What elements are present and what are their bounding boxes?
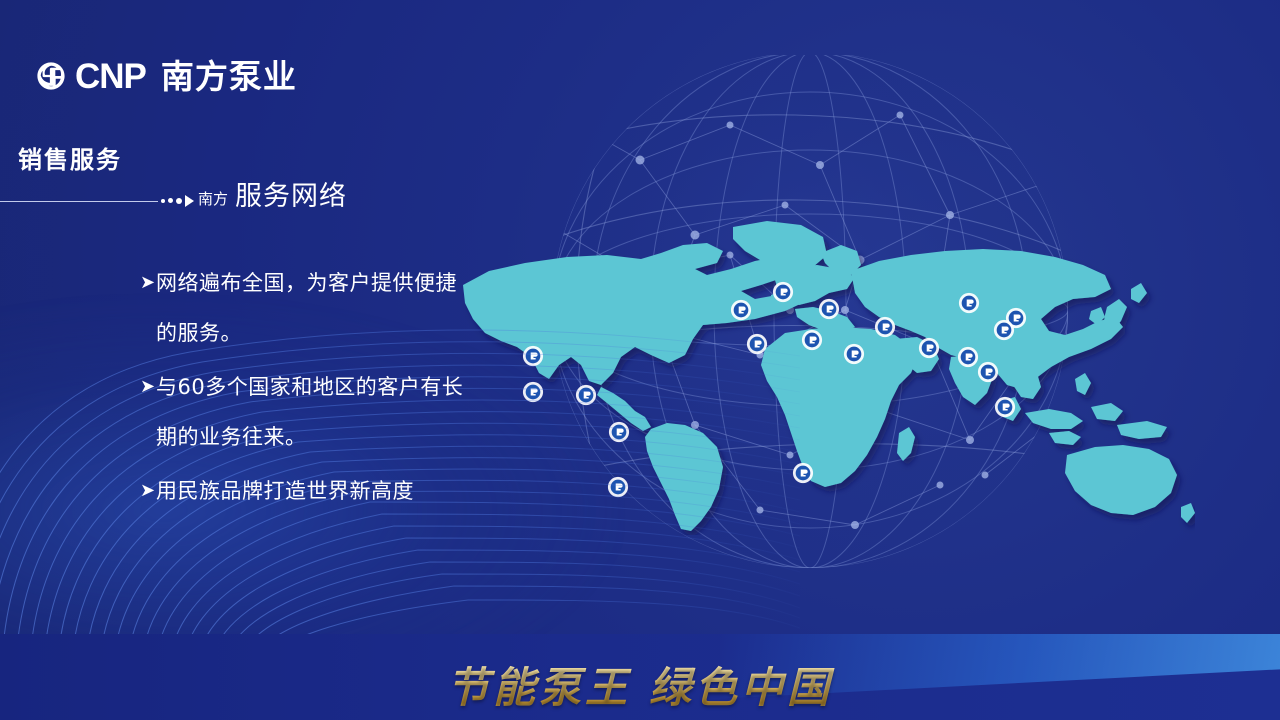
cnp-location-marker-icon[interactable] [843, 343, 865, 365]
dot-large [176, 198, 182, 204]
list-item: ➤ 用民族品牌打造世界新高度 [140, 466, 470, 516]
cnp-location-marker-icon[interactable] [818, 298, 840, 320]
slogan-part-2: 绿色中国 [649, 663, 833, 712]
cnp-location-marker-icon[interactable] [772, 281, 794, 303]
title-divider-rule [0, 201, 158, 202]
cnp-location-marker-icon[interactable] [746, 333, 768, 355]
bullet-text: 用民族品牌打造世界新高度 [156, 466, 470, 516]
bullet-list: ➤ 网络遍布全国，为客户提供便捷的服务。 ➤ 与60多个国家和地区的客户有长期的… [140, 258, 470, 520]
chevron-bullet-icon: ➤ [140, 258, 156, 308]
slogan-part-1: 节能泵王 [447, 663, 631, 712]
chevron-bullet-icon: ➤ [140, 466, 156, 516]
dot-medium [168, 198, 173, 203]
brand-logo[interactable]: CNP 南方泵业 [36, 55, 297, 97]
page-title: 销售服务 [18, 140, 122, 175]
cnp-location-marker-icon[interactable] [958, 292, 980, 314]
cnp-location-marker-icon[interactable] [957, 346, 979, 368]
slide-root: CNP 南方泵业 销售服务 南方 服务网络 ➤ 网络遍布全国，为客户提供便捷的服… [0, 0, 1280, 720]
cnp-location-marker-icon[interactable] [994, 396, 1016, 418]
logo-chinese-name: 南方泵业 [161, 60, 297, 93]
logo-latin-name: CNP [75, 59, 146, 94]
footer-slogan: 节能泵王绿色中国 [0, 654, 1280, 715]
cnp-location-marker-icon[interactable] [993, 319, 1015, 341]
cnp-location-marker-icon[interactable] [874, 316, 896, 338]
footer-bar: 节能泵王绿色中国 [0, 634, 1280, 720]
cnp-location-marker-icon[interactable] [792, 462, 814, 484]
list-item: ➤ 与60多个国家和地区的客户有长期的业务往来。 [140, 362, 470, 462]
cnp-location-marker-icon[interactable] [730, 299, 752, 321]
cnp-location-marker-icon[interactable] [575, 384, 597, 406]
cnp-location-marker-icon[interactable] [608, 421, 630, 443]
chevron-bullet-icon: ➤ [140, 362, 156, 412]
cnp-location-marker-icon[interactable] [918, 337, 940, 359]
cnp-location-marker-icon[interactable] [977, 361, 999, 383]
bullet-text: 与60多个国家和地区的客户有长期的业务往来。 [156, 362, 470, 462]
list-item: ➤ 网络遍布全国，为客户提供便捷的服务。 [140, 258, 470, 358]
subtitle-row: 南方 服务网络 [0, 176, 470, 210]
cnp-emblem-icon [36, 61, 66, 91]
cnp-location-marker-icon[interactable] [801, 329, 823, 351]
subtitle-main: 服务网络 [235, 174, 347, 213]
arrow-right-icon [185, 195, 194, 207]
cnp-location-marker-icon[interactable] [607, 476, 629, 498]
cnp-location-marker-icon[interactable] [522, 345, 544, 367]
three-dots-icon [161, 198, 182, 204]
cnp-location-marker-icon[interactable] [522, 381, 544, 403]
subtitle-prefix: 南方 [198, 188, 228, 209]
dot-small [161, 199, 165, 203]
bullet-text: 网络遍布全国，为客户提供便捷的服务。 [156, 258, 470, 358]
